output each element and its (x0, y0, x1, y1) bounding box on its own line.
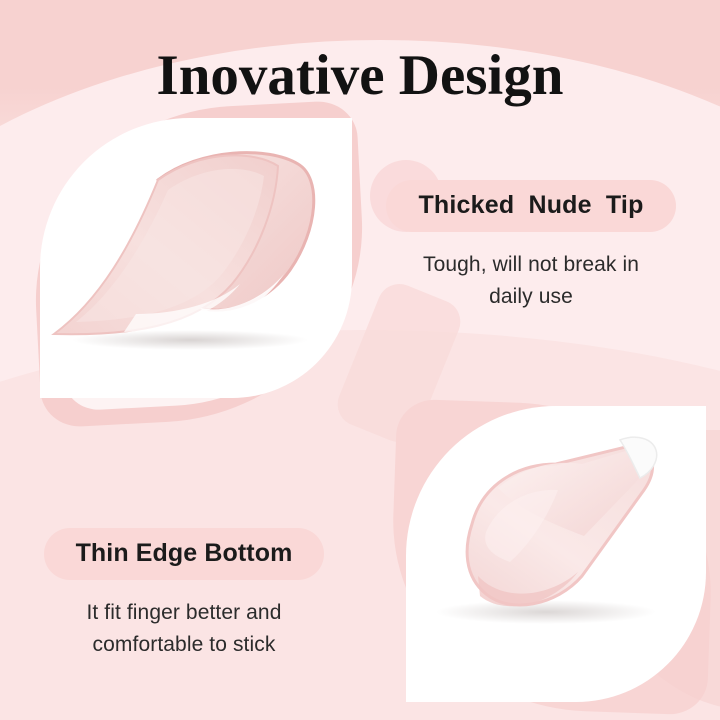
feature-caption-thin-edge-bottom: It fit finger better and comfortable to … (44, 597, 324, 661)
page-title: Inovative Design (0, 44, 720, 108)
nail-tip-underside-view-illustration (406, 406, 706, 702)
nail-tip-side-view-illustration (40, 118, 352, 398)
product-photo-thicked-nude-tip (40, 118, 352, 398)
caption-line: daily use (386, 281, 676, 313)
feature-callout-thicked-nude-tip: Thicked Nude Tip Tough, will not break i… (386, 180, 676, 313)
feature-label-thin-edge-bottom[interactable]: Thin Edge Bottom (44, 528, 324, 580)
feature-label-thicked-nude-tip[interactable]: Thicked Nude Tip (386, 180, 676, 232)
product-photo-thin-edge-bottom (406, 406, 706, 702)
caption-line: Tough, will not break in (386, 249, 676, 281)
caption-line: comfortable to stick (44, 629, 324, 661)
feature-callout-thin-edge-bottom: Thin Edge Bottom It fit finger better an… (44, 528, 324, 661)
feature-caption-thicked-nude-tip: Tough, will not break in daily use (386, 249, 676, 313)
product-feature-poster: Inovative Design (0, 0, 720, 720)
caption-line: It fit finger better and (44, 597, 324, 629)
